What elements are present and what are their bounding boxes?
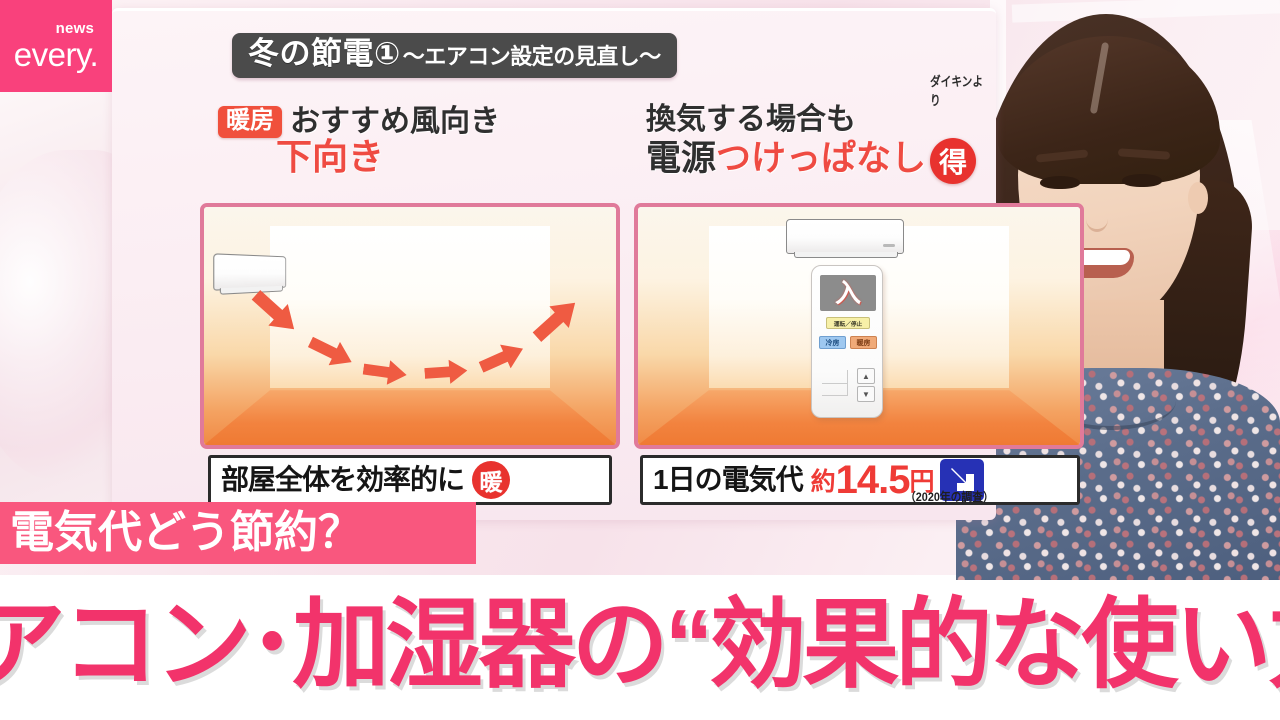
left-caption-text: 部屋全体を効率的に: [221, 466, 464, 494]
remote-mode-buttons: 冷房 暖房: [819, 336, 877, 349]
air-conditioner-unit-icon: [213, 253, 286, 290]
presenter-ear: [1188, 182, 1208, 214]
broadcast-screen: 冬の節電① ～エアコン設定の見直し～ ダイキンより 暖房 おすすめ風向き 下向き…: [0, 0, 1280, 720]
news-every-logo: news every.: [0, 0, 112, 92]
ac-vent-indicator: [883, 244, 895, 247]
right-heading-line2-red: つけっぱなし: [716, 140, 926, 179]
remote-illustration-panel: 入 運転／停止 冷房 暖房 ▲: [634, 203, 1084, 449]
remote-heat-label: 暖房: [857, 338, 871, 348]
graphic-title-main: 冬の節電①: [248, 36, 401, 72]
remote-temperature-stepper[interactable]: ▲ ▼: [857, 368, 875, 402]
graphic-title-sub: ～エアコン設定の見直し～: [403, 39, 661, 71]
left-heading-text: おすすめ風向き: [290, 105, 500, 139]
right-heading-line2-dark: 電源: [646, 140, 716, 179]
remote-cool-label: 冷房: [826, 338, 840, 348]
right-heading-line1: 換気する場合も: [646, 103, 1086, 138]
remote-temp-up-icon[interactable]: ▲: [857, 368, 875, 384]
question-banner-text: 電気代どう節約？: [10, 511, 362, 555]
headline-text: エアコン･加湿器の“効果的な使い方”: [0, 595, 1280, 693]
room-floor: [204, 390, 616, 445]
heating-mode-badge: 暖房: [218, 106, 282, 138]
right-section-heading: 換気する場合も 電源 つけっぱなし 得: [646, 103, 1086, 184]
left-caption-bar: 部屋全体を効率的に 暖: [208, 455, 612, 505]
remote-control: 入 運転／停止 冷房 暖房 ▲: [811, 265, 883, 418]
bargain-badge: 得: [930, 138, 976, 184]
warm-badge: 暖: [472, 461, 510, 499]
remote-temp-down-icon[interactable]: ▼: [857, 386, 875, 402]
question-banner: 電気代どう節約？: [0, 502, 476, 564]
remote-display-text: 入: [835, 280, 861, 306]
right-caption-bar: 1日の電気代 約 14.5 円 （2020年の調査）: [640, 455, 1080, 505]
logo-every-text: every.: [14, 38, 98, 71]
room-scene-left: [204, 207, 616, 445]
presenter-nose: [1086, 206, 1108, 232]
presenter-eye-right: [1122, 174, 1162, 187]
remote-power-button[interactable]: 運転／停止: [826, 317, 870, 329]
left-heading-emphasis: 下向き: [276, 137, 618, 177]
remote-display: 入: [820, 275, 876, 311]
remote-power-label: 運転／停止: [834, 319, 863, 328]
right-caption-label: 1日の電気代: [653, 466, 803, 494]
logo-news-text: news: [56, 21, 94, 36]
remote-blank-buttons: [822, 370, 848, 396]
remote-cool-button[interactable]: 冷房: [819, 336, 846, 349]
right-caption-approx: 約: [811, 462, 836, 498]
airflow-illustration-panel: [200, 203, 620, 449]
air-conditioner-unit-icon: [786, 219, 904, 254]
right-caption-value: 14.5: [836, 460, 910, 500]
info-graphic-card: 冬の節電① ～エアコン設定の見直し～ ダイキンより 暖房 おすすめ風向き 下向き…: [112, 8, 996, 520]
graphic-title-bar: 冬の節電① ～エアコン設定の見直し～: [232, 33, 677, 78]
headline-banner: エアコン･加湿器の“効果的な使い方”: [0, 580, 1280, 708]
room-back-wall: [270, 226, 550, 388]
room-scene-right: 入 運転／停止 冷房 暖房 ▲: [638, 207, 1080, 445]
remote-heat-button[interactable]: 暖房: [850, 336, 877, 349]
left-section-heading: 暖房 おすすめ風向き 下向き: [218, 105, 618, 177]
right-caption-note: （2020年の調査）: [905, 488, 994, 505]
